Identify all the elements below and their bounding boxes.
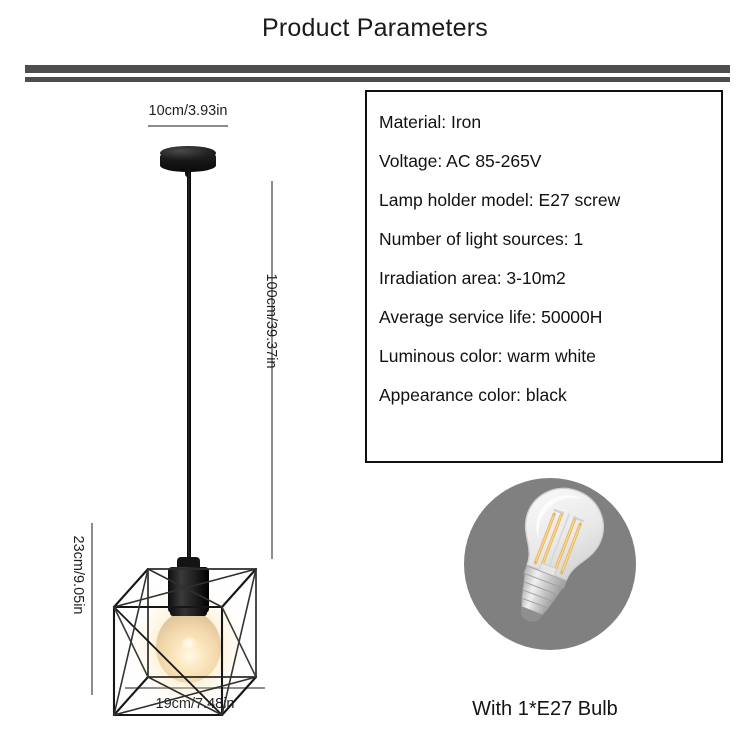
measure-line-total-drop — [271, 181, 273, 559]
spec-item-luminous-color: Luminous color: warm white — [379, 348, 713, 366]
geometric-cube-cage — [96, 547, 288, 747]
ceiling-canopy — [160, 146, 216, 176]
dimension-label-total-drop: 100cm/39.37in — [263, 273, 279, 368]
hanging-cord — [187, 173, 191, 561]
measure-line-canopy-width — [148, 125, 228, 127]
spec-item-appearance-color: Appearance color: black — [379, 387, 713, 405]
divider-bar-thin — [25, 77, 730, 82]
spec-item-service-life: Average service life: 50000H — [379, 309, 713, 327]
spec-item-lamp-holder-model: Lamp holder model: E27 screw — [379, 192, 713, 210]
measure-line-shade-height — [91, 523, 93, 695]
specifications-panel: Material: Iron Voltage: AC 85-265V Lamp … — [365, 90, 723, 463]
dimension-label-shade-height: 23cm/9.05in — [70, 536, 86, 615]
dimension-label-canopy-width: 10cm/3.93in — [148, 103, 228, 119]
product-parameters-page: Product Parameters 10cm/3.93in 100cm/39.… — [0, 0, 750, 750]
e27-filament-bulb-icon — [464, 478, 636, 650]
spec-item-irradiation-area: Irradiation area: 3-10m2 — [379, 270, 713, 288]
divider-bar-thick — [25, 65, 730, 73]
bulb-showcase — [464, 478, 636, 650]
canopy-top-face — [160, 146, 216, 160]
spec-item-voltage: Voltage: AC 85-265V — [379, 153, 713, 171]
specifications-list: Material: Iron Voltage: AC 85-265V Lamp … — [379, 114, 713, 426]
spec-item-material: Material: Iron — [379, 114, 713, 132]
lamp-diagram: 10cm/3.93in 100cm/39.37in 23cm/9.05in 19… — [0, 95, 360, 735]
spec-item-light-sources: Number of light sources: 1 — [379, 231, 713, 249]
page-title: Product Parameters — [0, 14, 750, 43]
bulb-showcase-caption: With 1*E27 Bulb — [380, 698, 710, 721]
